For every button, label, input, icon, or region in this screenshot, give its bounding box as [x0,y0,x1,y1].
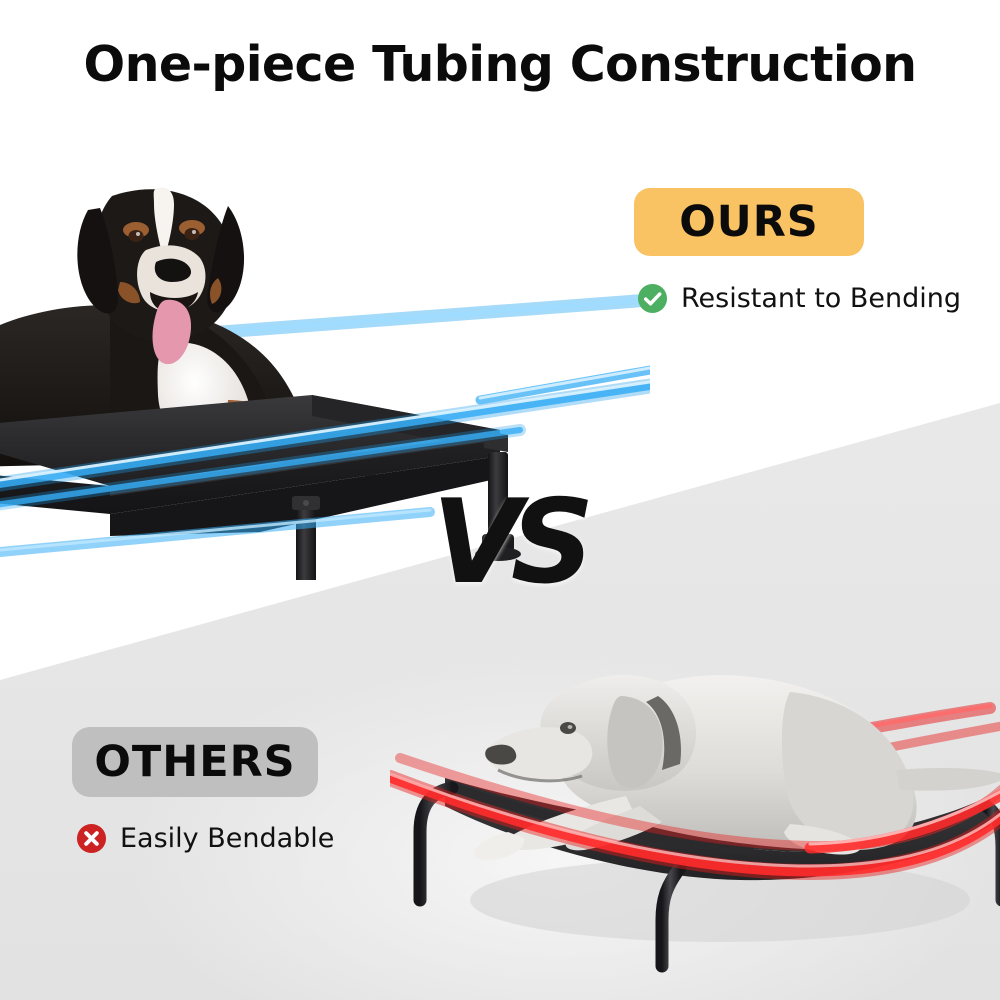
others-feature-row: Easily Bendable [76,823,334,854]
others-badge: OTHERS [72,727,318,797]
ours-feature-label: Resistant to Bending [681,283,961,314]
others-badge-label: OTHERS [94,737,295,787]
others-feature-label: Easily Bendable [120,823,334,854]
versus-label: VS [432,485,583,601]
comparison-infographic: One-piece Tubing Construction OURS Resis… [0,0,1000,1000]
others-product-photo [390,600,1000,1000]
red-x-circle-icon [76,823,107,854]
ours-badge: OURS [634,188,864,256]
green-check-circle-icon [637,283,668,314]
ours-feature-row: Resistant to Bending [637,283,961,314]
page-title: One-piece Tubing Construction [0,36,1000,93]
bed-leg [296,500,316,580]
ours-badge-label: OURS [679,197,819,247]
